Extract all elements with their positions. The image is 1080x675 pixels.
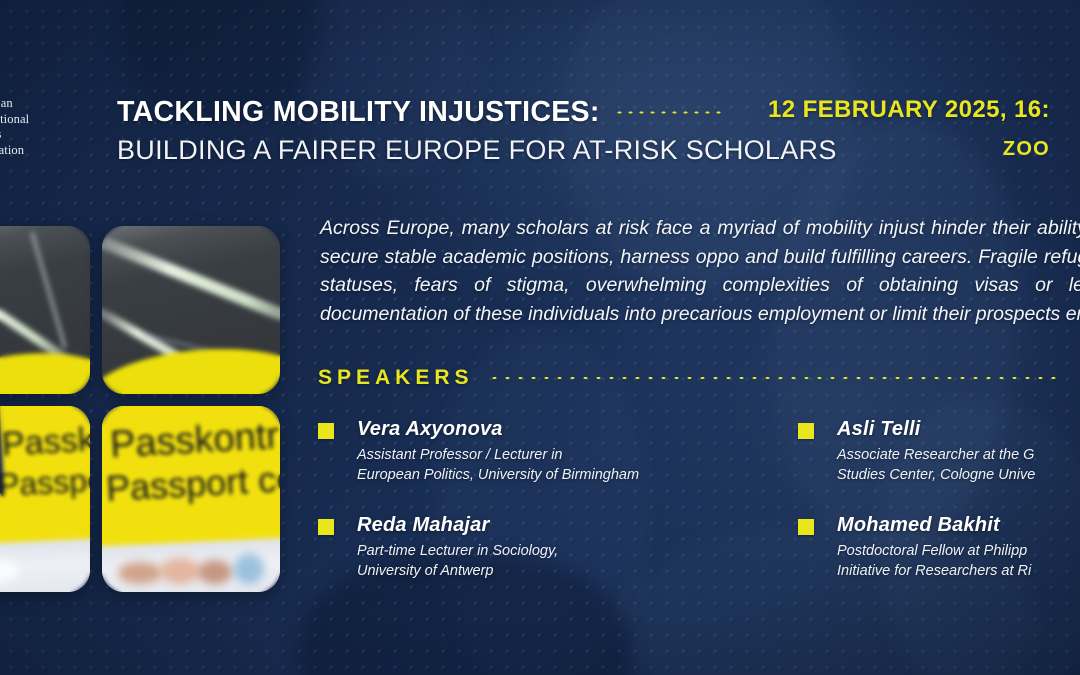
photo-tile-ceiling-right (102, 226, 280, 394)
bullet-square-icon (318, 519, 334, 535)
speaker-row: Vera Axyonova Assistant Professor / Lect… (318, 418, 1080, 485)
speaker-text: Reda Mahajar Part-time Lecturer in Socio… (357, 514, 558, 581)
eisa-logo: European International Studies Associati… (0, 96, 79, 158)
event-meta: 12 FEBRUARY 2025, 16: ZOO (768, 96, 1050, 161)
photo-collage: ★ ★ ★ ★ ★ ★ U R ER Passkontrolle Passpor… (0, 226, 286, 592)
speakers-heading: SPEAKERS (318, 366, 1078, 390)
speaker-card: Reda Mahajar Part-time Lecturer in Socio… (318, 514, 798, 581)
speaker-name: Vera Axyonova (357, 418, 639, 441)
speakers-grid: Vera Axyonova Assistant Professor / Lect… (318, 418, 1080, 581)
speaker-text: Asli Telli Associate Researcher at the G… (837, 418, 1035, 485)
bullet-square-icon (798, 519, 814, 535)
bullet-square-icon (798, 423, 814, 439)
logo-line-3: Studies (0, 127, 79, 143)
logo-line-1: European (0, 96, 79, 112)
logo-line-2: International (0, 112, 79, 128)
speaker-name: Asli Telli (837, 418, 1035, 441)
photo-tile-passport-sign: Passkontrolle Passport cont (102, 406, 280, 592)
speaker-name: Reda Mahajar (357, 514, 558, 537)
speaker-name: Mohamed Bakhit (837, 514, 1031, 537)
photo-blur (0, 226, 90, 394)
speaker-role: Postdoctoral Fellow at Philipp Initiativ… (837, 542, 1031, 581)
description-paragraph: Across Europe, many scholars at risk fac… (320, 214, 1080, 328)
dotted-divider-icon (614, 110, 726, 115)
photo-tile-ceiling-left (0, 226, 90, 394)
page-subtitle: BUILDING A FAIRER EUROPE FOR AT-RISK SCH… (117, 135, 837, 166)
bullet-square-icon (318, 423, 334, 439)
title-row: TACKLING MOBILITY INJUSTICES: (117, 96, 837, 129)
speaker-card: Mohamed Bakhit Postdoctoral Fellow at Ph… (798, 514, 1080, 581)
event-date: 12 FEBRUARY 2025, 16: (768, 96, 1050, 124)
speaker-card: Vera Axyonova Assistant Professor / Lect… (318, 418, 798, 485)
speaker-row: Reda Mahajar Part-time Lecturer in Socio… (318, 514, 1080, 581)
page-title: TACKLING MOBILITY INJUSTICES: (117, 96, 600, 129)
photo-blur (102, 226, 280, 394)
speaker-text: Vera Axyonova Assistant Professor / Lect… (357, 418, 639, 485)
speaker-text: Mohamed Bakhit Postdoctoral Fellow at Ph… (837, 514, 1031, 581)
photo-tile-eu-flag-sign: ★ ★ ★ ★ ★ ★ U R ER Passkontrolle Passpor… (0, 406, 90, 592)
photo-blur (0, 406, 90, 592)
event-platform: ZOO (768, 138, 1050, 161)
event-poster: European International Studies Associati… (0, 0, 1080, 675)
logo-line-4: Association (0, 143, 79, 159)
speaker-role: Part-time Lecturer in Sociology, Univers… (357, 542, 558, 581)
dotted-divider-icon (488, 375, 1064, 381)
title-block: TACKLING MOBILITY INJUSTICES: BUILDING A… (117, 96, 837, 166)
speakers-label: SPEAKERS (318, 366, 474, 390)
speaker-role: Assistant Professor / Lecturer in Europe… (357, 446, 639, 485)
speaker-card: Asli Telli Associate Researcher at the G… (798, 418, 1080, 485)
photo-blur (102, 406, 280, 592)
speaker-role: Associate Researcher at the G Studies Ce… (837, 446, 1035, 485)
